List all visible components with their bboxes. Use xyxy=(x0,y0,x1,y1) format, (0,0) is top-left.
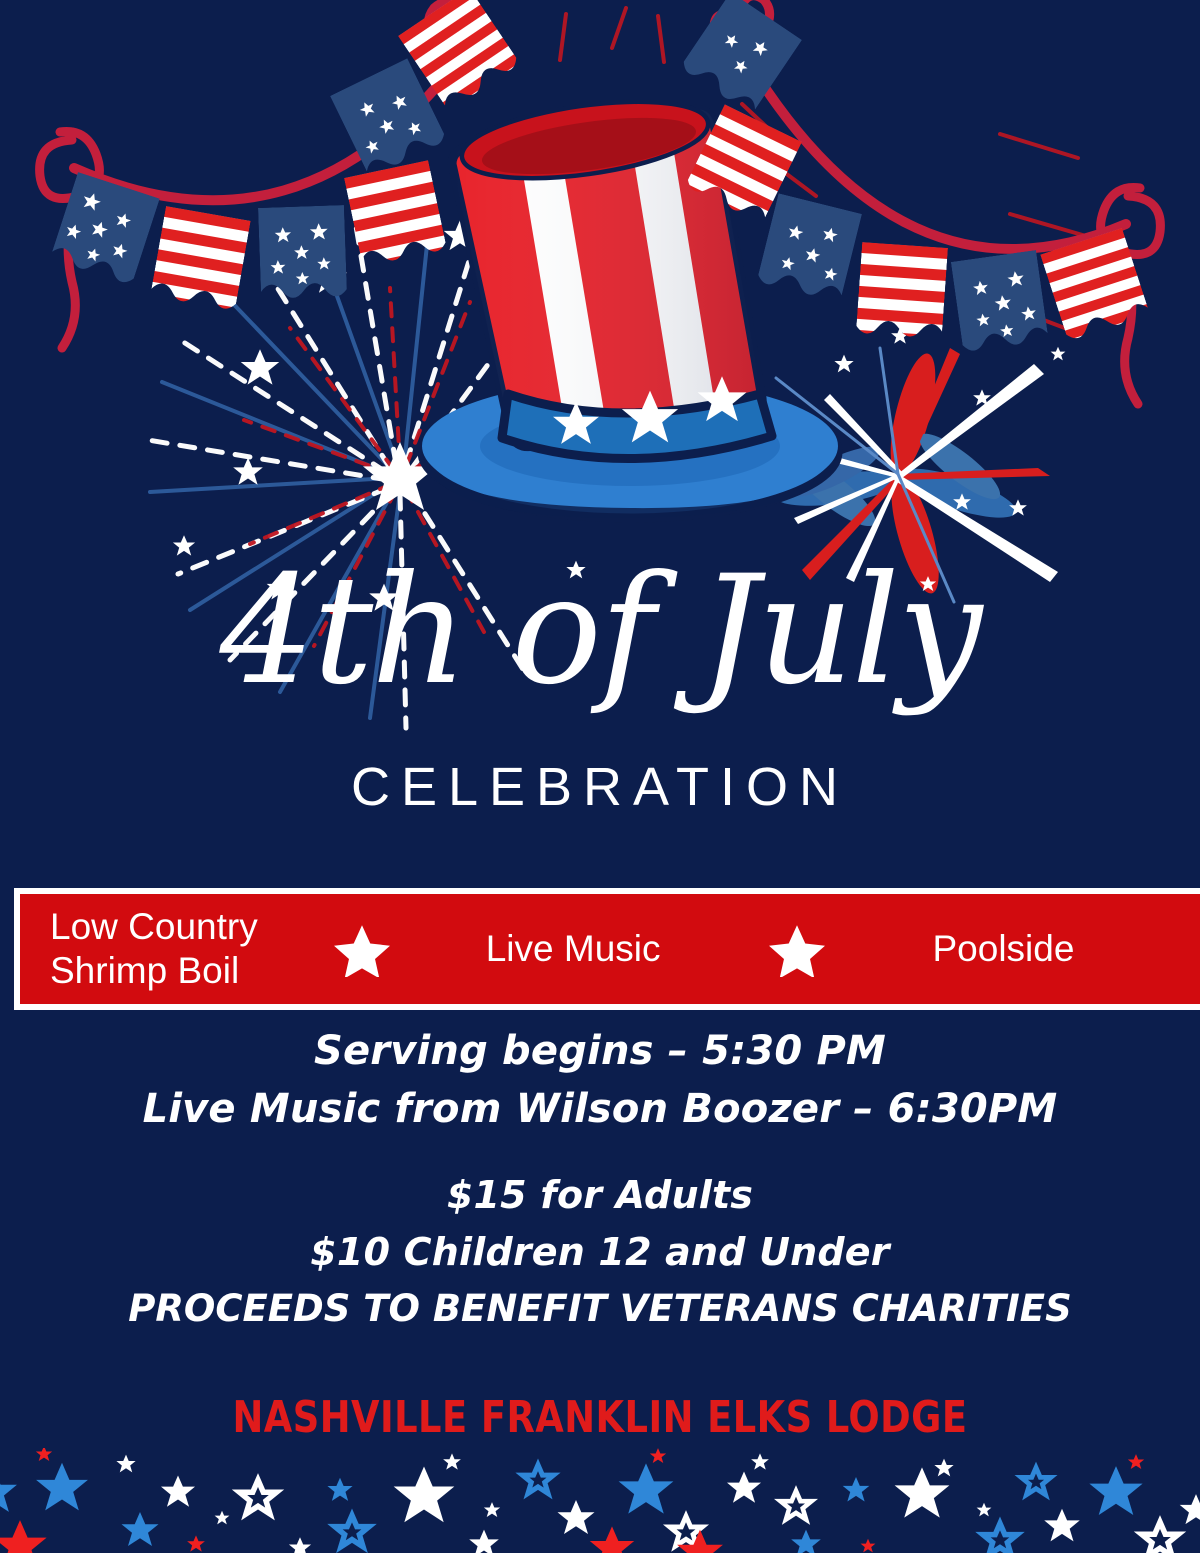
page-title-text: 4th of July xyxy=(220,544,981,718)
venue-name: NASHVILLE FRANKLIN ELKS LODGE xyxy=(42,1392,1158,1443)
banner-item-shrimp-boil: Low Country Shrimp Boil xyxy=(50,905,258,992)
patriotic-bunting-right-icon xyxy=(679,0,1160,404)
bunting-flag-stripes xyxy=(150,206,251,312)
banner-content: Low Country Shrimp Boil Live Music Pools… xyxy=(20,894,1200,1004)
patriotic-bunting-left-icon xyxy=(40,0,521,348)
schedule-group: Serving begins – 5:30 PM Live Music from… xyxy=(0,1022,1200,1139)
features-banner: Low Country Shrimp Boil Live Music Pools… xyxy=(0,888,1200,1010)
event-details: Serving begins – 5:30 PM Live Music from… xyxy=(0,1022,1200,1336)
star-icon xyxy=(334,921,390,977)
bunting-flag-stars xyxy=(50,172,160,286)
confetti-stars-border xyxy=(0,1448,1200,1553)
uncle-sam-top-hat-icon xyxy=(422,91,838,518)
bunting-flag-stripes xyxy=(398,0,521,112)
page-subtitle: CELEBRATION xyxy=(0,756,1200,818)
banner-item-poolside: Poolside xyxy=(933,927,1075,971)
bunting-flag-stars xyxy=(330,58,448,178)
banner-item-live-music: Live Music xyxy=(486,927,661,971)
july-4th-celebration-poster: 4th of July CELEBRATION Low Country Shri… xyxy=(0,0,1200,1553)
pricing-group: $15 for Adults $10 Children 12 and Under… xyxy=(0,1167,1200,1337)
schedule-line-music: Live Music from Wilson Boozer – 6:30PM xyxy=(0,1080,1200,1138)
schedule-line-serving: Serving begins – 5:30 PM xyxy=(0,1022,1200,1080)
star-icon xyxy=(769,921,825,977)
page-title: 4th of July xyxy=(0,556,1200,706)
bunting-flag-stripes xyxy=(344,160,447,268)
confetti-stars-icon xyxy=(0,1448,1200,1553)
proceeds-note: PROCEEDS TO BENEFIT VETERANS CHARITIES xyxy=(0,1281,1200,1337)
hero-artwork xyxy=(0,0,1200,880)
price-children: $10 Children 12 and Under xyxy=(0,1224,1200,1281)
price-adults: $15 for Adults xyxy=(0,1167,1200,1224)
bunting-flag-stars xyxy=(258,205,347,300)
